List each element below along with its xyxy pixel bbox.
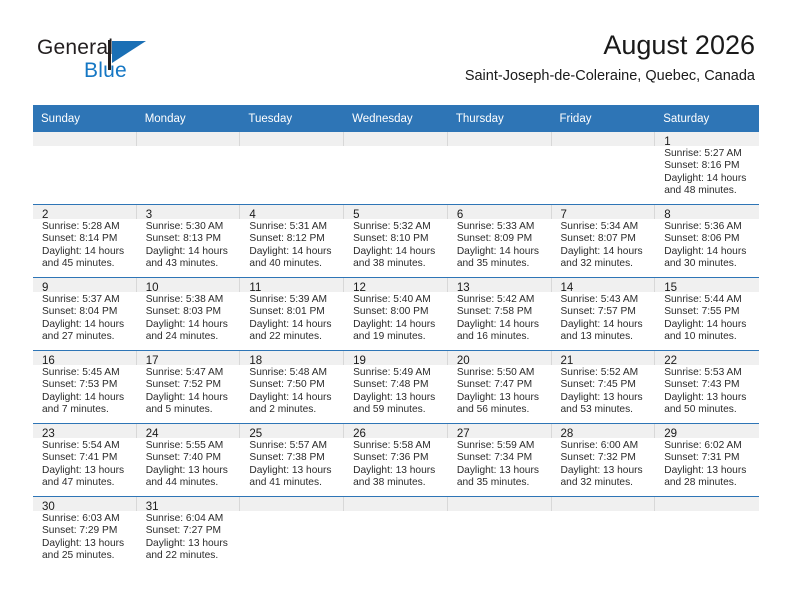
daylight-text-line2: and 24 minutes. bbox=[146, 331, 235, 343]
calendar-week-row: 9Sunrise: 5:37 AMSunset: 8:04 PMDaylight… bbox=[33, 278, 759, 351]
daylight-text-line1: Daylight: 13 hours bbox=[457, 392, 546, 404]
sunset-text: Sunset: 7:48 PM bbox=[353, 379, 442, 391]
daylight-text-line2: and 5 minutes. bbox=[146, 404, 235, 416]
day-sun-info: Sunrise: 5:53 AMSunset: 7:43 PMDaylight:… bbox=[655, 365, 759, 417]
calendar-cell-empty bbox=[240, 132, 344, 205]
calendar-day-cell[interactable]: 14Sunrise: 5:43 AMSunset: 7:57 PMDayligh… bbox=[552, 278, 656, 351]
daylight-text-line2: and 38 minutes. bbox=[353, 477, 442, 489]
daylight-text-line2: and 32 minutes. bbox=[561, 477, 650, 489]
sunset-text: Sunset: 7:36 PM bbox=[353, 452, 442, 464]
calendar-day-cell[interactable]: 28Sunrise: 6:00 AMSunset: 7:32 PMDayligh… bbox=[552, 424, 656, 497]
sunset-text: Sunset: 7:57 PM bbox=[561, 306, 650, 318]
day-sun-info: Sunrise: 5:31 AMSunset: 8:12 PMDaylight:… bbox=[240, 219, 344, 271]
sunrise-text: Sunrise: 6:00 AM bbox=[561, 440, 650, 452]
day-sun-info: Sunrise: 5:32 AMSunset: 8:10 PMDaylight:… bbox=[344, 219, 448, 271]
calendar-day-cell[interactable]: 12Sunrise: 5:40 AMSunset: 8:00 PMDayligh… bbox=[344, 278, 448, 351]
daylight-text-line2: and 27 minutes. bbox=[42, 331, 131, 343]
day-sun-info: Sunrise: 5:37 AMSunset: 8:04 PMDaylight:… bbox=[33, 292, 137, 344]
day-sun-info: Sunrise: 5:36 AMSunset: 8:06 PMDaylight:… bbox=[655, 219, 759, 271]
sunset-text: Sunset: 7:31 PM bbox=[664, 452, 753, 464]
weekday-header-wednesday: Wednesday bbox=[344, 105, 448, 132]
day-sun-info: Sunrise: 5:38 AMSunset: 8:03 PMDaylight:… bbox=[137, 292, 241, 344]
sunrise-text: Sunrise: 5:31 AM bbox=[249, 221, 338, 233]
day-sun-info: Sunrise: 5:33 AMSunset: 8:09 PMDaylight:… bbox=[448, 219, 552, 271]
calendar-cell-empty bbox=[240, 497, 344, 570]
day-number: 8 bbox=[655, 205, 759, 219]
sunrise-text: Sunrise: 5:39 AM bbox=[249, 294, 338, 306]
daylight-text-line1: Daylight: 14 hours bbox=[42, 246, 131, 258]
sunset-text: Sunset: 7:58 PM bbox=[457, 306, 546, 318]
day-sun-info: Sunrise: 5:28 AMSunset: 8:14 PMDaylight:… bbox=[33, 219, 137, 271]
daylight-text-line1: Daylight: 14 hours bbox=[42, 319, 131, 331]
calendar-day-cell[interactable]: 6Sunrise: 5:33 AMSunset: 8:09 PMDaylight… bbox=[448, 205, 552, 278]
day-number: 7 bbox=[552, 205, 656, 219]
daylight-text-line2: and 19 minutes. bbox=[353, 331, 442, 343]
day-number: 20 bbox=[448, 351, 552, 365]
day-number: 27 bbox=[448, 424, 552, 438]
calendar-day-cell[interactable]: 8Sunrise: 5:36 AMSunset: 8:06 PMDaylight… bbox=[655, 205, 759, 278]
sunset-text: Sunset: 7:45 PM bbox=[561, 379, 650, 391]
calendar-day-cell[interactable]: 25Sunrise: 5:57 AMSunset: 7:38 PMDayligh… bbox=[240, 424, 344, 497]
sunset-text: Sunset: 8:10 PM bbox=[353, 233, 442, 245]
daylight-text-line1: Daylight: 13 hours bbox=[664, 465, 753, 477]
daylight-text-line1: Daylight: 14 hours bbox=[146, 246, 235, 258]
day-number: 31 bbox=[137, 497, 241, 511]
page-subtitle: Saint-Joseph-de-Coleraine, Quebec, Canad… bbox=[465, 66, 755, 86]
daylight-text-line1: Daylight: 13 hours bbox=[561, 392, 650, 404]
daylight-text-line2: and 35 minutes. bbox=[457, 258, 546, 270]
sunset-text: Sunset: 8:09 PM bbox=[457, 233, 546, 245]
day-number bbox=[240, 497, 344, 511]
calendar-day-cell[interactable]: 21Sunrise: 5:52 AMSunset: 7:45 PMDayligh… bbox=[552, 351, 656, 424]
daylight-text-line1: Daylight: 14 hours bbox=[249, 392, 338, 404]
day-sun-info: Sunrise: 6:04 AMSunset: 7:27 PMDaylight:… bbox=[137, 511, 241, 563]
calendar-day-cell[interactable]: 15Sunrise: 5:44 AMSunset: 7:55 PMDayligh… bbox=[655, 278, 759, 351]
daylight-text-line1: Daylight: 14 hours bbox=[664, 319, 753, 331]
calendar-day-cell[interactable]: 27Sunrise: 5:59 AMSunset: 7:34 PMDayligh… bbox=[448, 424, 552, 497]
weekday-header-saturday: Saturday bbox=[655, 105, 759, 132]
sunset-text: Sunset: 7:50 PM bbox=[249, 379, 338, 391]
daylight-text-line2: and 22 minutes. bbox=[146, 550, 235, 562]
day-sun-info: Sunrise: 5:49 AMSunset: 7:48 PMDaylight:… bbox=[344, 365, 448, 417]
day-number: 12 bbox=[344, 278, 448, 292]
sunset-text: Sunset: 8:16 PM bbox=[664, 160, 753, 172]
day-sun-info: Sunrise: 5:42 AMSunset: 7:58 PMDaylight:… bbox=[448, 292, 552, 344]
day-number: 24 bbox=[137, 424, 241, 438]
calendar-cell-empty bbox=[552, 132, 656, 205]
calendar-day-cell[interactable]: 23Sunrise: 5:54 AMSunset: 7:41 PMDayligh… bbox=[33, 424, 137, 497]
sunrise-text: Sunrise: 5:45 AM bbox=[42, 367, 131, 379]
day-sun-info: Sunrise: 5:48 AMSunset: 7:50 PMDaylight:… bbox=[240, 365, 344, 417]
daylight-text-line2: and 25 minutes. bbox=[42, 550, 131, 562]
day-sun-info: Sunrise: 5:47 AMSunset: 7:52 PMDaylight:… bbox=[137, 365, 241, 417]
day-sun-info: Sunrise: 5:58 AMSunset: 7:36 PMDaylight:… bbox=[344, 438, 448, 490]
sunset-text: Sunset: 7:43 PM bbox=[664, 379, 753, 391]
sunrise-text: Sunrise: 5:36 AM bbox=[664, 221, 753, 233]
calendar-day-cell[interactable]: 18Sunrise: 5:48 AMSunset: 7:50 PMDayligh… bbox=[240, 351, 344, 424]
day-number: 5 bbox=[344, 205, 448, 219]
sunset-text: Sunset: 7:47 PM bbox=[457, 379, 546, 391]
day-sun-info: Sunrise: 5:55 AMSunset: 7:40 PMDaylight:… bbox=[137, 438, 241, 490]
day-number bbox=[137, 132, 241, 146]
day-sun-info: Sunrise: 5:27 AMSunset: 8:16 PMDaylight:… bbox=[655, 146, 759, 198]
calendar-cell-empty bbox=[344, 132, 448, 205]
daylight-text-line2: and 30 minutes. bbox=[664, 258, 753, 270]
daylight-text-line2: and 47 minutes. bbox=[42, 477, 131, 489]
day-number: 26 bbox=[344, 424, 448, 438]
day-number: 15 bbox=[655, 278, 759, 292]
calendar-day-cell[interactable]: 16Sunrise: 5:45 AMSunset: 7:53 PMDayligh… bbox=[33, 351, 137, 424]
daylight-text-line2: and 41 minutes. bbox=[249, 477, 338, 489]
day-number: 22 bbox=[655, 351, 759, 365]
sunset-text: Sunset: 8:00 PM bbox=[353, 306, 442, 318]
calendar-cell-empty bbox=[655, 497, 759, 570]
calendar-cell-empty bbox=[448, 132, 552, 205]
day-number bbox=[344, 497, 448, 511]
sunrise-text: Sunrise: 5:52 AM bbox=[561, 367, 650, 379]
calendar-day-cell[interactable]: 13Sunrise: 5:42 AMSunset: 7:58 PMDayligh… bbox=[448, 278, 552, 351]
day-sun-info: Sunrise: 5:34 AMSunset: 8:07 PMDaylight:… bbox=[552, 219, 656, 271]
sunrise-text: Sunrise: 5:48 AM bbox=[249, 367, 338, 379]
day-number: 10 bbox=[137, 278, 241, 292]
calendar-day-cell[interactable]: 26Sunrise: 5:58 AMSunset: 7:36 PMDayligh… bbox=[344, 424, 448, 497]
daylight-text-line2: and 56 minutes. bbox=[457, 404, 546, 416]
calendar-cell-empty bbox=[33, 132, 137, 205]
sunrise-text: Sunrise: 5:33 AM bbox=[457, 221, 546, 233]
day-sun-info: Sunrise: 5:52 AMSunset: 7:45 PMDaylight:… bbox=[552, 365, 656, 417]
sunrise-text: Sunrise: 5:42 AM bbox=[457, 294, 546, 306]
calendar-day-cell[interactable]: 30Sunrise: 6:03 AMSunset: 7:29 PMDayligh… bbox=[33, 497, 137, 570]
day-number bbox=[655, 497, 759, 511]
sunset-text: Sunset: 8:04 PM bbox=[42, 306, 131, 318]
weekday-header-sunday: Sunday bbox=[33, 105, 137, 132]
sunrise-text: Sunrise: 5:38 AM bbox=[146, 294, 235, 306]
day-number bbox=[448, 132, 552, 146]
daylight-text-line1: Daylight: 14 hours bbox=[146, 392, 235, 404]
daylight-text-line2: and 16 minutes. bbox=[457, 331, 546, 343]
day-sun-info: Sunrise: 5:39 AMSunset: 8:01 PMDaylight:… bbox=[240, 292, 344, 344]
calendar-header-row: Sunday Monday Tuesday Wednesday Thursday… bbox=[33, 105, 759, 132]
sunrise-text: Sunrise: 5:47 AM bbox=[146, 367, 235, 379]
daylight-text-line1: Daylight: 13 hours bbox=[664, 392, 753, 404]
calendar-day-cell[interactable]: 11Sunrise: 5:39 AMSunset: 8:01 PMDayligh… bbox=[240, 278, 344, 351]
calendar-day-cell[interactable]: 1Sunrise: 5:27 AMSunset: 8:16 PMDaylight… bbox=[655, 132, 759, 205]
daylight-text-line1: Daylight: 13 hours bbox=[42, 538, 131, 550]
sunset-text: Sunset: 7:32 PM bbox=[561, 452, 650, 464]
calendar-day-cell[interactable]: 4Sunrise: 5:31 AMSunset: 8:12 PMDaylight… bbox=[240, 205, 344, 278]
day-number: 18 bbox=[240, 351, 344, 365]
sunset-text: Sunset: 7:40 PM bbox=[146, 452, 235, 464]
day-number: 11 bbox=[240, 278, 344, 292]
day-sun-info: Sunrise: 6:00 AMSunset: 7:32 PMDaylight:… bbox=[552, 438, 656, 490]
calendar-cell-empty bbox=[448, 497, 552, 570]
calendar-cell-empty bbox=[137, 132, 241, 205]
title-block: August 2026 Saint-Joseph-de-Coleraine, Q… bbox=[465, 28, 755, 86]
calendar-body: 1Sunrise: 5:27 AMSunset: 8:16 PMDaylight… bbox=[33, 132, 759, 569]
day-sun-info: Sunrise: 5:40 AMSunset: 8:00 PMDaylight:… bbox=[344, 292, 448, 344]
sunrise-text: Sunrise: 6:03 AM bbox=[42, 513, 131, 525]
sunset-text: Sunset: 7:27 PM bbox=[146, 525, 235, 537]
calendar-day-cell[interactable]: 5Sunrise: 5:32 AMSunset: 8:10 PMDaylight… bbox=[344, 205, 448, 278]
sunset-text: Sunset: 7:38 PM bbox=[249, 452, 338, 464]
daylight-text-line1: Daylight: 14 hours bbox=[249, 319, 338, 331]
daylight-text-line1: Daylight: 14 hours bbox=[457, 246, 546, 258]
daylight-text-line1: Daylight: 13 hours bbox=[561, 465, 650, 477]
day-number: 23 bbox=[33, 424, 137, 438]
calendar-day-cell[interactable]: 29Sunrise: 6:02 AMSunset: 7:31 PMDayligh… bbox=[655, 424, 759, 497]
day-number: 21 bbox=[552, 351, 656, 365]
sunset-text: Sunset: 8:07 PM bbox=[561, 233, 650, 245]
daylight-text-line2: and 45 minutes. bbox=[42, 258, 131, 270]
daylight-text-line1: Daylight: 13 hours bbox=[353, 465, 442, 477]
day-number: 28 bbox=[552, 424, 656, 438]
day-number: 1 bbox=[655, 132, 759, 146]
sunrise-text: Sunrise: 5:34 AM bbox=[561, 221, 650, 233]
calendar-cell-empty bbox=[552, 497, 656, 570]
daylight-text-line2: and 10 minutes. bbox=[664, 331, 753, 343]
sunrise-text: Sunrise: 5:30 AM bbox=[146, 221, 235, 233]
day-number: 4 bbox=[240, 205, 344, 219]
daylight-text-line1: Daylight: 14 hours bbox=[42, 392, 131, 404]
daylight-text-line1: Daylight: 13 hours bbox=[457, 465, 546, 477]
day-number bbox=[448, 497, 552, 511]
day-number: 17 bbox=[137, 351, 241, 365]
sunset-text: Sunset: 8:13 PM bbox=[146, 233, 235, 245]
calendar-day-cell[interactable]: 24Sunrise: 5:55 AMSunset: 7:40 PMDayligh… bbox=[137, 424, 241, 497]
daylight-text-line2: and 2 minutes. bbox=[249, 404, 338, 416]
sunset-text: Sunset: 8:01 PM bbox=[249, 306, 338, 318]
daylight-text-line1: Daylight: 14 hours bbox=[457, 319, 546, 331]
sunrise-text: Sunrise: 6:02 AM bbox=[664, 440, 753, 452]
sunset-text: Sunset: 8:12 PM bbox=[249, 233, 338, 245]
day-sun-info: Sunrise: 5:30 AMSunset: 8:13 PMDaylight:… bbox=[137, 219, 241, 271]
day-sun-info: Sunrise: 6:02 AMSunset: 7:31 PMDaylight:… bbox=[655, 438, 759, 490]
weekday-header-tuesday: Tuesday bbox=[240, 105, 344, 132]
sunset-text: Sunset: 7:34 PM bbox=[457, 452, 546, 464]
day-sun-info: Sunrise: 5:59 AMSunset: 7:34 PMDaylight:… bbox=[448, 438, 552, 490]
daylight-text-line2: and 50 minutes. bbox=[664, 404, 753, 416]
daylight-text-line1: Daylight: 14 hours bbox=[146, 319, 235, 331]
day-number bbox=[33, 132, 137, 146]
page-header: General Blue August 2026 Saint-Joseph-de… bbox=[0, 0, 792, 98]
daylight-text-line1: Daylight: 13 hours bbox=[146, 465, 235, 477]
calendar-day-cell[interactable]: 10Sunrise: 5:38 AMSunset: 8:03 PMDayligh… bbox=[137, 278, 241, 351]
calendar-week-row: 2Sunrise: 5:28 AMSunset: 8:14 PMDaylight… bbox=[33, 205, 759, 278]
calendar-cell-empty bbox=[344, 497, 448, 570]
sunset-text: Sunset: 8:06 PM bbox=[664, 233, 753, 245]
calendar-week-row: 1Sunrise: 5:27 AMSunset: 8:16 PMDaylight… bbox=[33, 132, 759, 205]
day-number: 9 bbox=[33, 278, 137, 292]
day-number: 14 bbox=[552, 278, 656, 292]
brand-name-blue: Blue bbox=[84, 59, 127, 83]
sunrise-text: Sunrise: 5:49 AM bbox=[353, 367, 442, 379]
day-number: 29 bbox=[655, 424, 759, 438]
daylight-text-line2: and 43 minutes. bbox=[146, 258, 235, 270]
day-number: 2 bbox=[33, 205, 137, 219]
sunrise-text: Sunrise: 5:57 AM bbox=[249, 440, 338, 452]
day-sun-info: Sunrise: 5:54 AMSunset: 7:41 PMDaylight:… bbox=[33, 438, 137, 490]
page-title: August 2026 bbox=[465, 28, 755, 62]
calendar-day-cell[interactable]: 19Sunrise: 5:49 AMSunset: 7:48 PMDayligh… bbox=[344, 351, 448, 424]
calendar-page: General Blue August 2026 Saint-Joseph-de… bbox=[0, 0, 792, 612]
day-number: 6 bbox=[448, 205, 552, 219]
daylight-text-line2: and 35 minutes. bbox=[457, 477, 546, 489]
daylight-text-line1: Daylight: 14 hours bbox=[561, 246, 650, 258]
day-number bbox=[552, 497, 656, 511]
daylight-text-line2: and 22 minutes. bbox=[249, 331, 338, 343]
sunset-text: Sunset: 7:52 PM bbox=[146, 379, 235, 391]
calendar-day-cell[interactable]: 22Sunrise: 5:53 AMSunset: 7:43 PMDayligh… bbox=[655, 351, 759, 424]
day-number: 13 bbox=[448, 278, 552, 292]
daylight-text-line1: Daylight: 14 hours bbox=[353, 319, 442, 331]
sunrise-text: Sunrise: 5:50 AM bbox=[457, 367, 546, 379]
day-number: 30 bbox=[33, 497, 137, 511]
sunrise-text: Sunrise: 5:59 AM bbox=[457, 440, 546, 452]
daylight-text-line2: and 7 minutes. bbox=[42, 404, 131, 416]
weekday-header-thursday: Thursday bbox=[448, 105, 552, 132]
daylight-text-line2: and 40 minutes. bbox=[249, 258, 338, 270]
daylight-text-line2: and 59 minutes. bbox=[353, 404, 442, 416]
calendar-day-cell[interactable]: 3Sunrise: 5:30 AMSunset: 8:13 PMDaylight… bbox=[137, 205, 241, 278]
calendar-day-cell[interactable]: 31Sunrise: 6:04 AMSunset: 7:27 PMDayligh… bbox=[137, 497, 241, 570]
day-number: 25 bbox=[240, 424, 344, 438]
sunrise-text: Sunrise: 5:32 AM bbox=[353, 221, 442, 233]
sunrise-text: Sunrise: 5:44 AM bbox=[664, 294, 753, 306]
sunrise-text: Sunrise: 5:55 AM bbox=[146, 440, 235, 452]
daylight-text-line2: and 53 minutes. bbox=[561, 404, 650, 416]
sunrise-text: Sunrise: 5:40 AM bbox=[353, 294, 442, 306]
day-sun-info: Sunrise: 5:44 AMSunset: 7:55 PMDaylight:… bbox=[655, 292, 759, 344]
calendar-day-cell[interactable]: 17Sunrise: 5:47 AMSunset: 7:52 PMDayligh… bbox=[137, 351, 241, 424]
sunrise-text: Sunrise: 5:28 AM bbox=[42, 221, 131, 233]
daylight-text-line1: Daylight: 14 hours bbox=[561, 319, 650, 331]
day-number: 3 bbox=[137, 205, 241, 219]
daylight-text-line1: Daylight: 14 hours bbox=[353, 246, 442, 258]
calendar-day-cell[interactable]: 9Sunrise: 5:37 AMSunset: 8:04 PMDaylight… bbox=[33, 278, 137, 351]
daylight-text-line1: Daylight: 13 hours bbox=[42, 465, 131, 477]
day-sun-info: Sunrise: 6:03 AMSunset: 7:29 PMDaylight:… bbox=[33, 511, 137, 563]
sunset-text: Sunset: 7:41 PM bbox=[42, 452, 131, 464]
daylight-text-line1: Daylight: 13 hours bbox=[146, 538, 235, 550]
weekday-header-friday: Friday bbox=[552, 105, 656, 132]
daylight-text-line2: and 48 minutes. bbox=[664, 185, 753, 197]
calendar-day-cell[interactable]: 7Sunrise: 5:34 AMSunset: 8:07 PMDaylight… bbox=[552, 205, 656, 278]
sunset-text: Sunset: 8:14 PM bbox=[42, 233, 131, 245]
sunset-text: Sunset: 7:53 PM bbox=[42, 379, 131, 391]
sunset-text: Sunset: 8:03 PM bbox=[146, 306, 235, 318]
day-number bbox=[240, 132, 344, 146]
day-sun-info: Sunrise: 5:45 AMSunset: 7:53 PMDaylight:… bbox=[33, 365, 137, 417]
calendar-week-row: 16Sunrise: 5:45 AMSunset: 7:53 PMDayligh… bbox=[33, 351, 759, 424]
day-sun-info: Sunrise: 5:50 AMSunset: 7:47 PMDaylight:… bbox=[448, 365, 552, 417]
calendar-table: Sunday Monday Tuesday Wednesday Thursday… bbox=[33, 105, 759, 569]
day-number bbox=[552, 132, 656, 146]
sunset-text: Sunset: 7:29 PM bbox=[42, 525, 131, 537]
daylight-text-line1: Daylight: 13 hours bbox=[249, 465, 338, 477]
brand-logo[interactable]: General Blue bbox=[37, 36, 227, 88]
sunrise-text: Sunrise: 5:53 AM bbox=[664, 367, 753, 379]
sunrise-text: Sunrise: 5:43 AM bbox=[561, 294, 650, 306]
day-number bbox=[344, 132, 448, 146]
daylight-text-line1: Daylight: 13 hours bbox=[353, 392, 442, 404]
brand-name-general: General bbox=[37, 36, 113, 60]
daylight-text-line2: and 13 minutes. bbox=[561, 331, 650, 343]
calendar-day-cell[interactable]: 2Sunrise: 5:28 AMSunset: 8:14 PMDaylight… bbox=[33, 205, 137, 278]
daylight-text-line1: Daylight: 14 hours bbox=[664, 246, 753, 258]
day-number: 16 bbox=[33, 351, 137, 365]
sunrise-text: Sunrise: 6:04 AM bbox=[146, 513, 235, 525]
sunrise-text: Sunrise: 5:37 AM bbox=[42, 294, 131, 306]
daylight-text-line2: and 38 minutes. bbox=[353, 258, 442, 270]
day-sun-info: Sunrise: 5:57 AMSunset: 7:38 PMDaylight:… bbox=[240, 438, 344, 490]
calendar-day-cell[interactable]: 20Sunrise: 5:50 AMSunset: 7:47 PMDayligh… bbox=[448, 351, 552, 424]
sunset-text: Sunset: 7:55 PM bbox=[664, 306, 753, 318]
daylight-text-line2: and 32 minutes. bbox=[561, 258, 650, 270]
daylight-text-line1: Daylight: 14 hours bbox=[249, 246, 338, 258]
day-sun-info: Sunrise: 5:43 AMSunset: 7:57 PMDaylight:… bbox=[552, 292, 656, 344]
daylight-text-line1: Daylight: 14 hours bbox=[664, 173, 753, 185]
sunrise-text: Sunrise: 5:54 AM bbox=[42, 440, 131, 452]
day-number: 19 bbox=[344, 351, 448, 365]
daylight-text-line2: and 44 minutes. bbox=[146, 477, 235, 489]
calendar-week-row: 23Sunrise: 5:54 AMSunset: 7:41 PMDayligh… bbox=[33, 424, 759, 497]
sunrise-text: Sunrise: 5:58 AM bbox=[353, 440, 442, 452]
daylight-text-line2: and 28 minutes. bbox=[664, 477, 753, 489]
sunrise-text: Sunrise: 5:27 AM bbox=[664, 148, 753, 160]
calendar-week-row: 30Sunrise: 6:03 AMSunset: 7:29 PMDayligh… bbox=[33, 497, 759, 570]
weekday-header-monday: Monday bbox=[137, 105, 241, 132]
